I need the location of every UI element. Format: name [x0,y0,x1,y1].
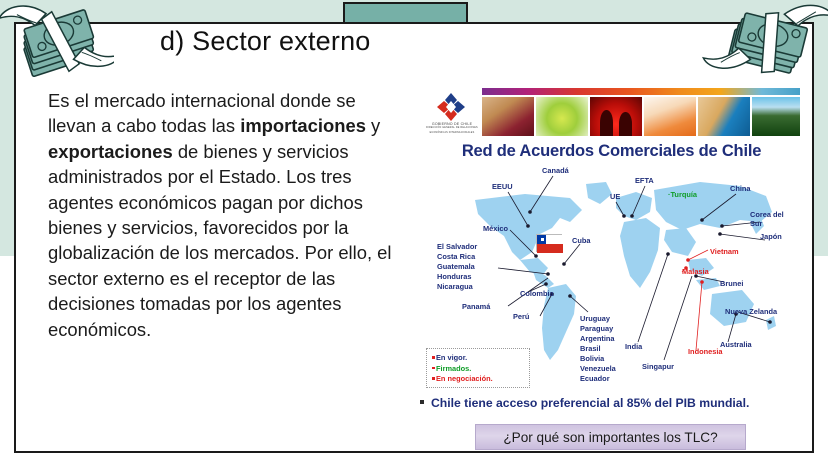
map-label: Japón [760,232,782,241]
map-label: Bolivia [580,354,604,363]
body-paragraph: Es el mercado internacional donde se lle… [48,88,400,342]
photo-panel-salmon [644,97,696,136]
map-label: Australia [720,340,752,349]
map-label: El Salvador [437,242,477,251]
photo-panel-landscape [752,97,800,136]
map-label: Sur [750,219,762,228]
map-label: Colombia [520,289,554,298]
photo-panel-grapes [536,97,588,136]
map-label: Guatemala [437,262,475,271]
map-label: México [483,224,508,233]
map-label: Singapur [642,362,674,371]
bullet-square-icon [420,400,424,404]
map-label: India [625,342,642,351]
map-label: ·Turquía [668,190,697,199]
body-text-run: y [366,115,380,136]
money-with-wings-icon-top-right [700,0,828,91]
map-label: Venezuela [580,364,616,373]
gov-logo-caption: GOBIERNO DE CHILE DIRECCIÓN GENERAL DE R… [426,122,478,135]
map-label: UE [610,192,620,201]
legend-item-firmados: Firmados. [432,364,524,375]
presentation-slide: d) Sector externo Es el mercado internac… [0,0,828,466]
map-label: Indonesia [688,347,723,356]
map-label: Brunei [720,279,743,288]
map-label: Malasia [682,267,709,276]
body-bold-term: exportaciones [48,141,173,162]
map-label: Panamá [462,302,490,311]
map-label: EFTA [635,176,654,185]
map-footer-bullet: Chile tiene acceso preferencial al 85% d… [420,396,803,410]
map-label: Corea del [750,210,784,219]
photo-panel-wine [482,97,534,136]
photo-panel-people [590,97,642,136]
map-label: Argentina [580,334,615,343]
photo-banner-strip [482,88,800,136]
map-label: Uruguay [580,314,610,323]
map-label: Nicaragua [437,282,473,291]
map-label: Honduras [437,272,472,281]
map-label: China [730,184,751,193]
map-label: Nueva Zelanda [725,307,777,316]
chile-star-emblem [436,92,466,122]
question-text: ¿Por qué son importantes los TLC? [503,430,717,445]
map-label: Canadá [542,166,569,175]
map-title: Red de Acuerdos Comerciales de Chile [420,142,803,161]
legend-item-en-vigor: En vigor. [432,353,524,364]
legend-bullet-icon [432,356,435,359]
gobierno-de-chile-logo: GOBIERNO DE CHILE DIRECCIÓN GENERAL DE R… [426,92,478,136]
money-with-wings-icon-top-left [0,0,114,91]
body-text-run: de bienes y servicios administrados por … [48,141,391,340]
question-callout-box[interactable]: ¿Por qué son importantes los TLC? [475,424,746,450]
trade-agreements-map-image: GOBIERNO DE CHILE DIRECCIÓN GENERAL DE R… [420,86,803,424]
legend-item-en-negociacion: En negociación. [432,374,524,385]
map-label: Paraguay [580,324,613,333]
map-label: Cuba [572,236,590,245]
map-label: Vietnam [710,247,739,256]
map-label: Brasil [580,344,601,353]
map-label: EEUU [492,182,513,191]
chile-flag-icon [536,234,562,252]
photo-panel-timber [698,97,750,136]
map-label: Perú [513,312,529,321]
legend-bullet-icon [432,377,435,380]
map-legend: En vigor. Firmados. En negociación. [426,348,530,388]
map-label: Costa Rica [437,252,475,261]
legend-bullet-icon [432,367,435,370]
page-title: d) Sector externo [160,26,371,57]
map-label: Ecuador [580,374,610,383]
body-bold-term: importaciones [240,115,366,136]
